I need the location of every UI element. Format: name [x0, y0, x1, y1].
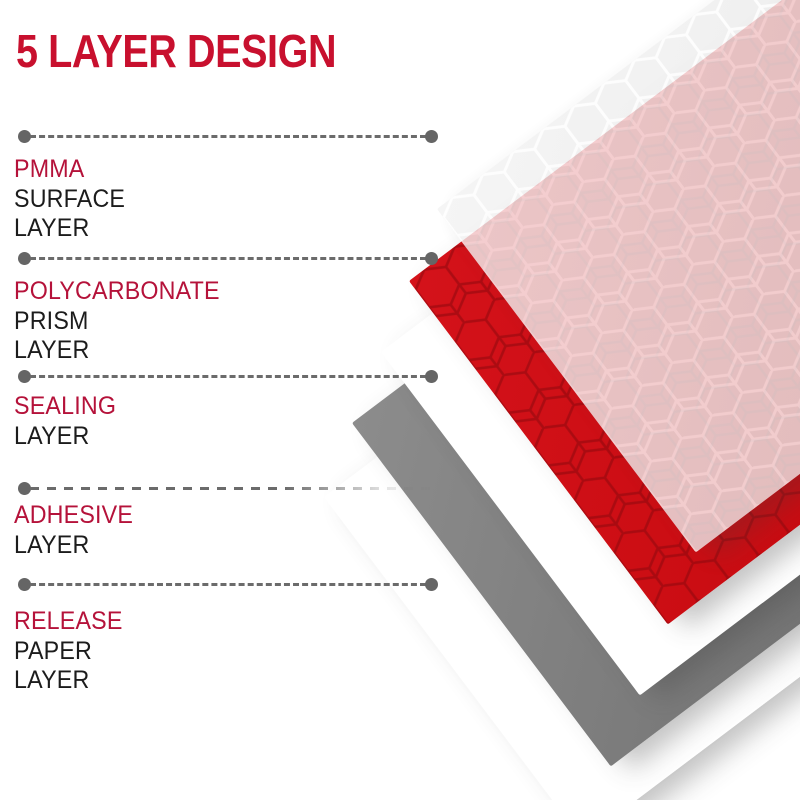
- layer-label-adhesive-highlight: ADHESIVE: [14, 501, 133, 529]
- layer-label-polycarbonate-highlight: POLYCARBONATE: [14, 277, 220, 305]
- layer-label-release-highlight: RELEASE: [14, 607, 123, 635]
- connector-line-2: [18, 251, 438, 265]
- page-title: 5 LAYER DESIGN: [16, 28, 336, 74]
- layer-label-release: RELEASE PAPER LAYER: [14, 607, 123, 696]
- layer-label-pmma-rest: SURFACE LAYER: [14, 185, 125, 243]
- connector-dot-right-3: [425, 370, 438, 383]
- sheet-release-paper-layer: [324, 76, 800, 800]
- layer-label-sealing-rest: LAYER: [14, 422, 89, 450]
- connector-dash-1: [30, 135, 426, 138]
- connector-line-1: [18, 129, 438, 143]
- layer-label-polycarbonate: POLYCARBONATE PRISM LAYER: [14, 277, 220, 366]
- connector-line-3: [18, 369, 438, 383]
- sheet-pmma-surface-layer: [437, 0, 800, 552]
- sheet-polycarbonate-prism-layer: [409, 0, 800, 624]
- layer-label-adhesive: ADHESIVE LAYER: [14, 501, 133, 560]
- sheet-adhesive-layer: [352, 2, 800, 767]
- honeycomb-pattern-red: [409, 0, 800, 624]
- layer-label-adhesive-rest: LAYER: [14, 531, 89, 559]
- connector-dash-4: [30, 487, 439, 490]
- connector-dot-right-2: [425, 252, 438, 265]
- honeycomb-pattern-light: [437, 0, 800, 552]
- connector-dash-3: [30, 375, 426, 378]
- connector-line-4: [18, 481, 438, 495]
- layer-label-sealing-highlight: SEALING: [14, 392, 116, 420]
- connector-dash-5: [30, 583, 426, 586]
- layer-label-pmma-highlight: PMMA: [14, 155, 83, 183]
- sheet-sealing-layer: [381, 0, 800, 695]
- connector-dash-2: [30, 257, 426, 260]
- layer-label-pmma: PMMA SURFACE LAYER: [14, 155, 125, 244]
- layer-label-sealing: SEALING LAYER: [14, 392, 116, 451]
- connector-dot-right-5: [425, 578, 438, 591]
- layer-label-polycarbonate-rest: PRISM LAYER: [14, 307, 89, 365]
- connector-line-5: [18, 577, 438, 591]
- infographic-canvas: 5 LAYER DESIGN PMMA SURFACE LAYER POLYCA…: [0, 0, 800, 800]
- layer-label-release-rest: PAPER LAYER: [14, 637, 92, 695]
- connector-dot-right-1: [425, 130, 438, 143]
